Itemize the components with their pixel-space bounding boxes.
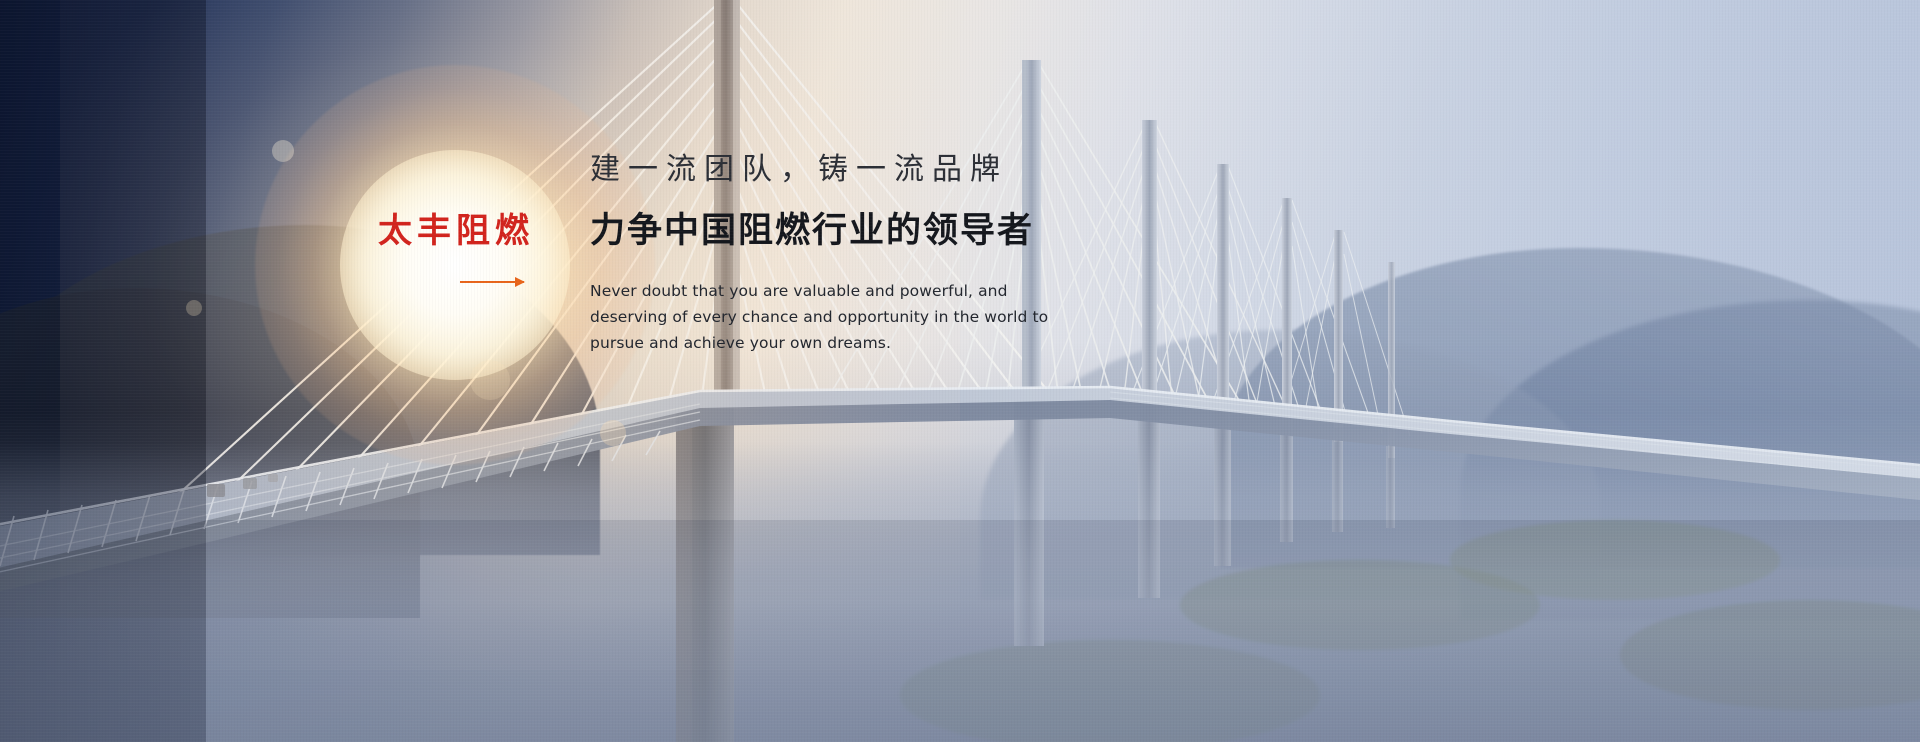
banner-headline: 力争中国阻燃行业的领导者 <box>590 210 1060 252</box>
banner-description: Never doubt that you are valuable and po… <box>590 278 1050 356</box>
banner-content: 太丰阻燃 建一流团队，铸一流品牌 力争中国阻燃行业的领导者 Never doub… <box>0 0 1920 742</box>
banner-subheadline: 建一流团队，铸一流品牌 <box>590 152 1060 188</box>
hero-banner: 太丰阻燃 建一流团队，铸一流品牌 力争中国阻燃行业的领导者 Never doub… <box>0 0 1920 742</box>
brand-logo[interactable]: 太丰阻燃 <box>378 214 558 283</box>
brand-logo-text: 太丰阻燃 <box>378 214 558 248</box>
arrow-right-icon <box>460 281 524 283</box>
banner-copy: 建一流团队，铸一流品牌 力争中国阻燃行业的领导者 Never doubt tha… <box>590 152 1060 356</box>
